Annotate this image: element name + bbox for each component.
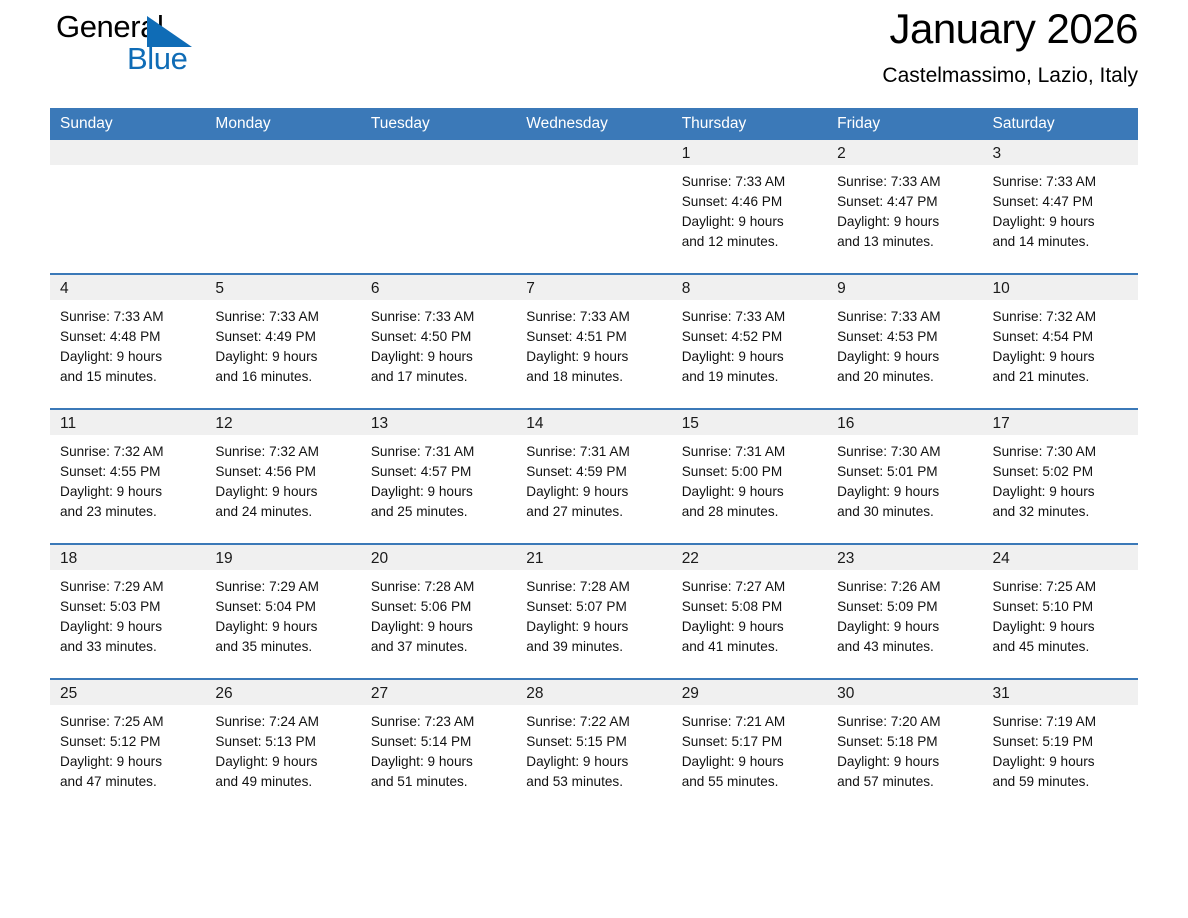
day-cell-13: 13Sunrise: 7:31 AMSunset: 4:57 PMDayligh… xyxy=(361,410,516,543)
daylight-text: Daylight: 9 hours and 51 minutes. xyxy=(371,752,493,792)
daylight-text: Daylight: 9 hours and 37 minutes. xyxy=(371,617,493,657)
calendar-day-cell[interactable]: 28Sunrise: 7:22 AMSunset: 5:15 PMDayligh… xyxy=(516,679,671,813)
day-cell-7: 7Sunrise: 7:33 AMSunset: 4:51 PMDaylight… xyxy=(516,275,671,408)
day-number: 11 xyxy=(50,410,205,435)
day-number: 30 xyxy=(827,680,982,705)
calendar-day-cell[interactable]: 1Sunrise: 7:33 AMSunset: 4:46 PMDaylight… xyxy=(672,140,827,274)
day-number: 6 xyxy=(361,275,516,300)
sunrise-text: Sunrise: 7:31 AM xyxy=(526,442,663,462)
logo-text-blue: Blue xyxy=(127,42,187,76)
sunset-text: Sunset: 4:55 PM xyxy=(60,462,197,482)
weekday-header-saturday: Saturday xyxy=(983,108,1138,140)
daylight-text: Daylight: 9 hours and 43 minutes. xyxy=(837,617,959,657)
sunrise-text: Sunrise: 7:28 AM xyxy=(371,577,508,597)
day-sun-info: Sunrise: 7:33 AMSunset: 4:46 PMDaylight:… xyxy=(672,165,827,252)
day-sun-info: Sunrise: 7:32 AMSunset: 4:55 PMDaylight:… xyxy=(50,435,205,522)
day-number: 1 xyxy=(672,140,827,165)
calendar-day-cell[interactable]: 30Sunrise: 7:20 AMSunset: 5:18 PMDayligh… xyxy=(827,679,982,813)
day-sun-info: Sunrise: 7:25 AMSunset: 5:12 PMDaylight:… xyxy=(50,705,205,792)
day-cell-22: 22Sunrise: 7:27 AMSunset: 5:08 PMDayligh… xyxy=(672,545,827,678)
day-sun-info: Sunrise: 7:29 AMSunset: 5:04 PMDaylight:… xyxy=(205,570,360,657)
weekday-header-wednesday: Wednesday xyxy=(516,108,671,140)
weekday-header-row: Sunday Monday Tuesday Wednesday Thursday… xyxy=(50,108,1138,140)
calendar-day-cell[interactable]: 14Sunrise: 7:31 AMSunset: 4:59 PMDayligh… xyxy=(516,409,671,544)
day-number xyxy=(516,140,671,165)
sunrise-text: Sunrise: 7:21 AM xyxy=(682,712,819,732)
day-cell-24: 24Sunrise: 7:25 AMSunset: 5:10 PMDayligh… xyxy=(983,545,1138,678)
day-number: 2 xyxy=(827,140,982,165)
sunrise-text: Sunrise: 7:31 AM xyxy=(371,442,508,462)
calendar-day-cell[interactable]: 12Sunrise: 7:32 AMSunset: 4:56 PMDayligh… xyxy=(205,409,360,544)
daylight-text: Daylight: 9 hours and 13 minutes. xyxy=(837,212,959,252)
calendar-day-cell[interactable]: 17Sunrise: 7:30 AMSunset: 5:02 PMDayligh… xyxy=(983,409,1138,544)
calendar-week-row: 11Sunrise: 7:32 AMSunset: 4:55 PMDayligh… xyxy=(50,409,1138,544)
sunset-text: Sunset: 4:56 PM xyxy=(215,462,352,482)
day-sun-info: Sunrise: 7:33 AMSunset: 4:53 PMDaylight:… xyxy=(827,300,982,387)
sunset-text: Sunset: 5:07 PM xyxy=(526,597,663,617)
sunrise-text: Sunrise: 7:27 AM xyxy=(682,577,819,597)
day-sun-info: Sunrise: 7:33 AMSunset: 4:48 PMDaylight:… xyxy=(50,300,205,387)
day-cell-21: 21Sunrise: 7:28 AMSunset: 5:07 PMDayligh… xyxy=(516,545,671,678)
day-number: 24 xyxy=(983,545,1138,570)
calendar-day-cell[interactable]: 5Sunrise: 7:33 AMSunset: 4:49 PMDaylight… xyxy=(205,274,360,409)
sunset-text: Sunset: 4:46 PM xyxy=(682,192,819,212)
day-number: 7 xyxy=(516,275,671,300)
calendar-week-row: 25Sunrise: 7:25 AMSunset: 5:12 PMDayligh… xyxy=(50,679,1138,813)
sunset-text: Sunset: 5:01 PM xyxy=(837,462,974,482)
day-sun-info: Sunrise: 7:22 AMSunset: 5:15 PMDaylight:… xyxy=(516,705,671,792)
sunrise-text: Sunrise: 7:23 AM xyxy=(371,712,508,732)
sunset-text: Sunset: 4:59 PM xyxy=(526,462,663,482)
day-number: 9 xyxy=(827,275,982,300)
day-sun-info: Sunrise: 7:30 AMSunset: 5:02 PMDaylight:… xyxy=(983,435,1138,522)
sunset-text: Sunset: 5:13 PM xyxy=(215,732,352,752)
daylight-text: Daylight: 9 hours and 59 minutes. xyxy=(993,752,1115,792)
calendar-day-cell[interactable]: 26Sunrise: 7:24 AMSunset: 5:13 PMDayligh… xyxy=(205,679,360,813)
sunset-text: Sunset: 5:17 PM xyxy=(682,732,819,752)
calendar-day-cell[interactable]: 6Sunrise: 7:33 AMSunset: 4:50 PMDaylight… xyxy=(361,274,516,409)
day-cell-2: 2Sunrise: 7:33 AMSunset: 4:47 PMDaylight… xyxy=(827,140,982,273)
day-sun-info: Sunrise: 7:31 AMSunset: 5:00 PMDaylight:… xyxy=(672,435,827,522)
calendar-day-cell[interactable] xyxy=(361,140,516,274)
day-number: 17 xyxy=(983,410,1138,435)
sunrise-text: Sunrise: 7:33 AM xyxy=(60,307,197,327)
day-sun-info: Sunrise: 7:28 AMSunset: 5:06 PMDaylight:… xyxy=(361,570,516,657)
daylight-text: Daylight: 9 hours and 30 minutes. xyxy=(837,482,959,522)
sunset-text: Sunset: 5:03 PM xyxy=(60,597,197,617)
day-number: 29 xyxy=(672,680,827,705)
calendar-day-cell[interactable]: 21Sunrise: 7:28 AMSunset: 5:07 PMDayligh… xyxy=(516,544,671,679)
daylight-text: Daylight: 9 hours and 47 minutes. xyxy=(60,752,182,792)
daylight-text: Daylight: 9 hours and 15 minutes. xyxy=(60,347,182,387)
day-sun-info: Sunrise: 7:30 AMSunset: 5:01 PMDaylight:… xyxy=(827,435,982,522)
sunrise-text: Sunrise: 7:32 AM xyxy=(215,442,352,462)
day-sun-info: Sunrise: 7:33 AMSunset: 4:47 PMDaylight:… xyxy=(983,165,1138,252)
daylight-text: Daylight: 9 hours and 28 minutes. xyxy=(682,482,804,522)
day-number: 3 xyxy=(983,140,1138,165)
day-sun-info: Sunrise: 7:28 AMSunset: 5:07 PMDaylight:… xyxy=(516,570,671,657)
daylight-text: Daylight: 9 hours and 45 minutes. xyxy=(993,617,1115,657)
calendar-day-cell[interactable]: 29Sunrise: 7:21 AMSunset: 5:17 PMDayligh… xyxy=(672,679,827,813)
sunset-text: Sunset: 4:54 PM xyxy=(993,327,1130,347)
sunrise-text: Sunrise: 7:20 AM xyxy=(837,712,974,732)
day-number: 12 xyxy=(205,410,360,435)
calendar-day-cell[interactable]: 19Sunrise: 7:29 AMSunset: 5:04 PMDayligh… xyxy=(205,544,360,679)
day-sun-info: Sunrise: 7:32 AMSunset: 4:56 PMDaylight:… xyxy=(205,435,360,522)
day-number: 19 xyxy=(205,545,360,570)
daylight-text: Daylight: 9 hours and 18 minutes. xyxy=(526,347,648,387)
day-cell-31: 31Sunrise: 7:19 AMSunset: 5:19 PMDayligh… xyxy=(983,680,1138,813)
day-cell-18: 18Sunrise: 7:29 AMSunset: 5:03 PMDayligh… xyxy=(50,545,205,678)
calendar-day-cell[interactable]: 2Sunrise: 7:33 AMSunset: 4:47 PMDaylight… xyxy=(827,140,982,274)
day-cell-16: 16Sunrise: 7:30 AMSunset: 5:01 PMDayligh… xyxy=(827,410,982,543)
day-cell-4: 4Sunrise: 7:33 AMSunset: 4:48 PMDaylight… xyxy=(50,275,205,408)
sunset-text: Sunset: 4:57 PM xyxy=(371,462,508,482)
sunset-text: Sunset: 5:19 PM xyxy=(993,732,1130,752)
daylight-text: Daylight: 9 hours and 53 minutes. xyxy=(526,752,648,792)
day-number: 21 xyxy=(516,545,671,570)
general-blue-logo[interactable]: General Blue xyxy=(50,10,200,82)
day-cell-25: 25Sunrise: 7:25 AMSunset: 5:12 PMDayligh… xyxy=(50,680,205,813)
day-number: 8 xyxy=(672,275,827,300)
calendar-day-cell[interactable] xyxy=(50,140,205,274)
calendar-week-row: 18Sunrise: 7:29 AMSunset: 5:03 PMDayligh… xyxy=(50,544,1138,679)
sunrise-text: Sunrise: 7:33 AM xyxy=(837,172,974,192)
daylight-text: Daylight: 9 hours and 55 minutes. xyxy=(682,752,804,792)
sunrise-text: Sunrise: 7:29 AM xyxy=(60,577,197,597)
sunrise-text: Sunrise: 7:32 AM xyxy=(60,442,197,462)
calendar-day-cell[interactable]: 4Sunrise: 7:33 AMSunset: 4:48 PMDaylight… xyxy=(50,274,205,409)
day-number: 28 xyxy=(516,680,671,705)
day-number xyxy=(50,140,205,165)
daylight-text: Daylight: 9 hours and 49 minutes. xyxy=(215,752,337,792)
day-number: 5 xyxy=(205,275,360,300)
calendar-day-cell[interactable]: 22Sunrise: 7:27 AMSunset: 5:08 PMDayligh… xyxy=(672,544,827,679)
day-number: 26 xyxy=(205,680,360,705)
sunrise-text: Sunrise: 7:24 AM xyxy=(215,712,352,732)
calendar-day-cell[interactable]: 18Sunrise: 7:29 AMSunset: 5:03 PMDayligh… xyxy=(50,544,205,679)
daylight-text: Daylight: 9 hours and 17 minutes. xyxy=(371,347,493,387)
day-cell-empty xyxy=(516,140,671,273)
weekday-header-thursday: Thursday xyxy=(672,108,827,140)
day-number: 14 xyxy=(516,410,671,435)
calendar-day-cell[interactable]: 8Sunrise: 7:33 AMSunset: 4:52 PMDaylight… xyxy=(672,274,827,409)
calendar-day-cell[interactable]: 31Sunrise: 7:19 AMSunset: 5:19 PMDayligh… xyxy=(983,679,1138,813)
sunrise-text: Sunrise: 7:25 AM xyxy=(993,577,1130,597)
location-subtitle: Castelmassimo, Lazio, Italy xyxy=(882,62,1138,90)
sunset-text: Sunset: 5:14 PM xyxy=(371,732,508,752)
day-cell-20: 20Sunrise: 7:28 AMSunset: 5:06 PMDayligh… xyxy=(361,545,516,678)
day-sun-info: Sunrise: 7:31 AMSunset: 4:57 PMDaylight:… xyxy=(361,435,516,522)
day-cell-15: 15Sunrise: 7:31 AMSunset: 5:00 PMDayligh… xyxy=(672,410,827,543)
sunrise-text: Sunrise: 7:29 AM xyxy=(215,577,352,597)
day-sun-info: Sunrise: 7:27 AMSunset: 5:08 PMDaylight:… xyxy=(672,570,827,657)
daylight-text: Daylight: 9 hours and 57 minutes. xyxy=(837,752,959,792)
daylight-text: Daylight: 9 hours and 20 minutes. xyxy=(837,347,959,387)
daylight-text: Daylight: 9 hours and 32 minutes. xyxy=(993,482,1115,522)
daylight-text: Daylight: 9 hours and 25 minutes. xyxy=(371,482,493,522)
day-sun-info: Sunrise: 7:31 AMSunset: 4:59 PMDaylight:… xyxy=(516,435,671,522)
day-sun-info: Sunrise: 7:32 AMSunset: 4:54 PMDaylight:… xyxy=(983,300,1138,387)
day-number: 23 xyxy=(827,545,982,570)
day-sun-info: Sunrise: 7:19 AMSunset: 5:19 PMDaylight:… xyxy=(983,705,1138,792)
day-sun-info: Sunrise: 7:33 AMSunset: 4:47 PMDaylight:… xyxy=(827,165,982,252)
day-number: 4 xyxy=(50,275,205,300)
calendar-day-cell[interactable]: 3Sunrise: 7:33 AMSunset: 4:47 PMDaylight… xyxy=(983,140,1138,274)
day-sun-info: Sunrise: 7:29 AMSunset: 5:03 PMDaylight:… xyxy=(50,570,205,657)
sunset-text: Sunset: 5:09 PM xyxy=(837,597,974,617)
title-block: January 2026 Castelmassimo, Lazio, Italy xyxy=(882,0,1138,90)
calendar-day-cell[interactable]: 13Sunrise: 7:31 AMSunset: 4:57 PMDayligh… xyxy=(361,409,516,544)
sunset-text: Sunset: 5:00 PM xyxy=(682,462,819,482)
sunset-text: Sunset: 5:10 PM xyxy=(993,597,1130,617)
day-cell-empty xyxy=(50,140,205,273)
day-sun-info: Sunrise: 7:23 AMSunset: 5:14 PMDaylight:… xyxy=(361,705,516,792)
sunrise-text: Sunrise: 7:33 AM xyxy=(837,307,974,327)
sunrise-text: Sunrise: 7:32 AM xyxy=(993,307,1130,327)
sunrise-text: Sunrise: 7:19 AM xyxy=(993,712,1130,732)
calendar-body: 1Sunrise: 7:33 AMSunset: 4:46 PMDaylight… xyxy=(50,140,1138,813)
daylight-text: Daylight: 9 hours and 23 minutes. xyxy=(60,482,182,522)
calendar-day-cell[interactable]: 15Sunrise: 7:31 AMSunset: 5:00 PMDayligh… xyxy=(672,409,827,544)
day-number: 20 xyxy=(361,545,516,570)
day-number: 22 xyxy=(672,545,827,570)
day-number xyxy=(361,140,516,165)
day-cell-30: 30Sunrise: 7:20 AMSunset: 5:18 PMDayligh… xyxy=(827,680,982,813)
day-number: 10 xyxy=(983,275,1138,300)
day-cell-10: 10Sunrise: 7:32 AMSunset: 4:54 PMDayligh… xyxy=(983,275,1138,408)
page-header: General Blue January 2026 Castelmassimo,… xyxy=(50,0,1138,108)
calendar-day-cell[interactable]: 7Sunrise: 7:33 AMSunset: 4:51 PMDaylight… xyxy=(516,274,671,409)
daylight-text: Daylight: 9 hours and 27 minutes. xyxy=(526,482,648,522)
daylight-text: Daylight: 9 hours and 12 minutes. xyxy=(682,212,804,252)
sunset-text: Sunset: 4:49 PM xyxy=(215,327,352,347)
sunrise-text: Sunrise: 7:33 AM xyxy=(682,307,819,327)
day-cell-12: 12Sunrise: 7:32 AMSunset: 4:56 PMDayligh… xyxy=(205,410,360,543)
day-number: 27 xyxy=(361,680,516,705)
day-cell-8: 8Sunrise: 7:33 AMSunset: 4:52 PMDaylight… xyxy=(672,275,827,408)
day-sun-info: Sunrise: 7:33 AMSunset: 4:51 PMDaylight:… xyxy=(516,300,671,387)
weekday-header-sunday: Sunday xyxy=(50,108,205,140)
calendar-week-row: 4Sunrise: 7:33 AMSunset: 4:48 PMDaylight… xyxy=(50,274,1138,409)
calendar-grid: Sunday Monday Tuesday Wednesday Thursday… xyxy=(50,108,1138,813)
day-number: 13 xyxy=(361,410,516,435)
day-number xyxy=(205,140,360,165)
day-cell-empty xyxy=(361,140,516,273)
sunrise-text: Sunrise: 7:33 AM xyxy=(215,307,352,327)
day-sun-info: Sunrise: 7:24 AMSunset: 5:13 PMDaylight:… xyxy=(205,705,360,792)
sunset-text: Sunset: 5:08 PM xyxy=(682,597,819,617)
day-cell-26: 26Sunrise: 7:24 AMSunset: 5:13 PMDayligh… xyxy=(205,680,360,813)
day-cell-5: 5Sunrise: 7:33 AMSunset: 4:49 PMDaylight… xyxy=(205,275,360,408)
sunrise-text: Sunrise: 7:30 AM xyxy=(837,442,974,462)
day-cell-empty xyxy=(205,140,360,273)
calendar-day-cell[interactable]: 9Sunrise: 7:33 AMSunset: 4:53 PMDaylight… xyxy=(827,274,982,409)
calendar-day-cell[interactable]: 20Sunrise: 7:28 AMSunset: 5:06 PMDayligh… xyxy=(361,544,516,679)
calendar-day-cell[interactable]: 23Sunrise: 7:26 AMSunset: 5:09 PMDayligh… xyxy=(827,544,982,679)
sunset-text: Sunset: 5:04 PM xyxy=(215,597,352,617)
page-title: January 2026 xyxy=(882,4,1138,54)
sunrise-text: Sunrise: 7:33 AM xyxy=(993,172,1130,192)
day-cell-23: 23Sunrise: 7:26 AMSunset: 5:09 PMDayligh… xyxy=(827,545,982,678)
weekday-header-tuesday: Tuesday xyxy=(361,108,516,140)
sunset-text: Sunset: 4:48 PM xyxy=(60,327,197,347)
daylight-text: Daylight: 9 hours and 21 minutes. xyxy=(993,347,1115,387)
sunrise-text: Sunrise: 7:25 AM xyxy=(60,712,197,732)
sunrise-text: Sunrise: 7:26 AM xyxy=(837,577,974,597)
day-number: 16 xyxy=(827,410,982,435)
calendar-day-cell[interactable]: 24Sunrise: 7:25 AMSunset: 5:10 PMDayligh… xyxy=(983,544,1138,679)
day-cell-19: 19Sunrise: 7:29 AMSunset: 5:04 PMDayligh… xyxy=(205,545,360,678)
calendar-day-cell[interactable]: 25Sunrise: 7:25 AMSunset: 5:12 PMDayligh… xyxy=(50,679,205,813)
weekday-header-monday: Monday xyxy=(205,108,360,140)
sunset-text: Sunset: 4:52 PM xyxy=(682,327,819,347)
sunset-text: Sunset: 5:12 PM xyxy=(60,732,197,752)
day-number: 31 xyxy=(983,680,1138,705)
calendar-day-cell[interactable]: 11Sunrise: 7:32 AMSunset: 4:55 PMDayligh… xyxy=(50,409,205,544)
sunset-text: Sunset: 4:47 PM xyxy=(837,192,974,212)
weekday-header-friday: Friday xyxy=(827,108,982,140)
daylight-text: Daylight: 9 hours and 35 minutes. xyxy=(215,617,337,657)
calendar-week-row: 1Sunrise: 7:33 AMSunset: 4:46 PMDaylight… xyxy=(50,140,1138,274)
day-cell-28: 28Sunrise: 7:22 AMSunset: 5:15 PMDayligh… xyxy=(516,680,671,813)
daylight-text: Daylight: 9 hours and 39 minutes. xyxy=(526,617,648,657)
sunset-text: Sunset: 5:15 PM xyxy=(526,732,663,752)
daylight-text: Daylight: 9 hours and 16 minutes. xyxy=(215,347,337,387)
sunrise-text: Sunrise: 7:33 AM xyxy=(682,172,819,192)
day-number: 15 xyxy=(672,410,827,435)
day-cell-1: 1Sunrise: 7:33 AMSunset: 4:46 PMDaylight… xyxy=(672,140,827,273)
day-cell-27: 27Sunrise: 7:23 AMSunset: 5:14 PMDayligh… xyxy=(361,680,516,813)
day-sun-info: Sunrise: 7:21 AMSunset: 5:17 PMDaylight:… xyxy=(672,705,827,792)
day-sun-info: Sunrise: 7:25 AMSunset: 5:10 PMDaylight:… xyxy=(983,570,1138,657)
sunset-text: Sunset: 5:02 PM xyxy=(993,462,1130,482)
calendar-day-cell[interactable] xyxy=(205,140,360,274)
sunset-text: Sunset: 4:50 PM xyxy=(371,327,508,347)
day-cell-17: 17Sunrise: 7:30 AMSunset: 5:02 PMDayligh… xyxy=(983,410,1138,543)
sunrise-text: Sunrise: 7:28 AM xyxy=(526,577,663,597)
day-cell-9: 9Sunrise: 7:33 AMSunset: 4:53 PMDaylight… xyxy=(827,275,982,408)
calendar-day-cell[interactable]: 10Sunrise: 7:32 AMSunset: 4:54 PMDayligh… xyxy=(983,274,1138,409)
daylight-text: Daylight: 9 hours and 24 minutes. xyxy=(215,482,337,522)
day-sun-info: Sunrise: 7:33 AMSunset: 4:52 PMDaylight:… xyxy=(672,300,827,387)
daylight-text: Daylight: 9 hours and 41 minutes. xyxy=(682,617,804,657)
calendar-day-cell[interactable] xyxy=(516,140,671,274)
daylight-text: Daylight: 9 hours and 19 minutes. xyxy=(682,347,804,387)
day-cell-11: 11Sunrise: 7:32 AMSunset: 4:55 PMDayligh… xyxy=(50,410,205,543)
sunset-text: Sunset: 5:18 PM xyxy=(837,732,974,752)
sunrise-text: Sunrise: 7:22 AM xyxy=(526,712,663,732)
sunset-text: Sunset: 4:47 PM xyxy=(993,192,1130,212)
sunrise-text: Sunrise: 7:33 AM xyxy=(371,307,508,327)
day-sun-info: Sunrise: 7:33 AMSunset: 4:49 PMDaylight:… xyxy=(205,300,360,387)
day-cell-29: 29Sunrise: 7:21 AMSunset: 5:17 PMDayligh… xyxy=(672,680,827,813)
calendar-day-cell[interactable]: 27Sunrise: 7:23 AMSunset: 5:14 PMDayligh… xyxy=(361,679,516,813)
sunrise-text: Sunrise: 7:31 AM xyxy=(682,442,819,462)
calendar-page: General Blue January 2026 Castelmassimo,… xyxy=(0,0,1188,918)
daylight-text: Daylight: 9 hours and 14 minutes. xyxy=(993,212,1115,252)
calendar-day-cell[interactable]: 16Sunrise: 7:30 AMSunset: 5:01 PMDayligh… xyxy=(827,409,982,544)
sunrise-text: Sunrise: 7:30 AM xyxy=(993,442,1130,462)
sunrise-text: Sunrise: 7:33 AM xyxy=(526,307,663,327)
day-cell-3: 3Sunrise: 7:33 AMSunset: 4:47 PMDaylight… xyxy=(983,140,1138,273)
sunset-text: Sunset: 4:51 PM xyxy=(526,327,663,347)
day-cell-14: 14Sunrise: 7:31 AMSunset: 4:59 PMDayligh… xyxy=(516,410,671,543)
day-sun-info: Sunrise: 7:33 AMSunset: 4:50 PMDaylight:… xyxy=(361,300,516,387)
sunset-text: Sunset: 5:06 PM xyxy=(371,597,508,617)
day-number: 25 xyxy=(50,680,205,705)
daylight-text: Daylight: 9 hours and 33 minutes. xyxy=(60,617,182,657)
sunset-text: Sunset: 4:53 PM xyxy=(837,327,974,347)
day-cell-6: 6Sunrise: 7:33 AMSunset: 4:50 PMDaylight… xyxy=(361,275,516,408)
day-sun-info: Sunrise: 7:20 AMSunset: 5:18 PMDaylight:… xyxy=(827,705,982,792)
day-sun-info: Sunrise: 7:26 AMSunset: 5:09 PMDaylight:… xyxy=(827,570,982,657)
day-number: 18 xyxy=(50,545,205,570)
